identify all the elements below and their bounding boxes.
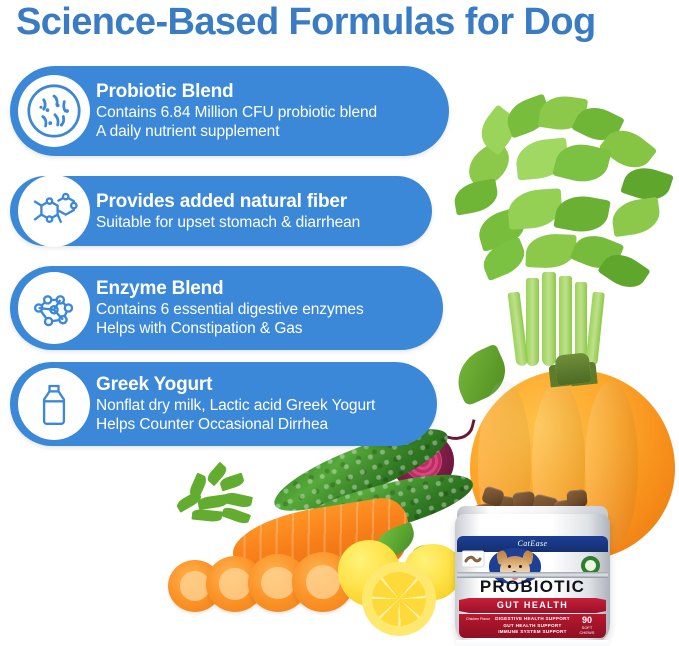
feature-line: Contains 6 essential digestive enzymes [96, 300, 429, 319]
page-title: Science-Based Formulas for Dog [16, 0, 666, 45]
enzyme-network-icon [18, 272, 90, 344]
claims-block: Chicken Flavor DIGESTIVE HEALTH SUPPORT … [459, 614, 606, 638]
lemon-half-image [362, 562, 436, 636]
carrot-slice-1 [168, 560, 222, 612]
feature-line: Nonflat dry milk, Lactic acid Greek Yogu… [96, 396, 423, 415]
feature-callout-enzyme-blend[interactable]: Enzyme Blend Contains 6 essential digest… [10, 266, 443, 350]
product-infographic: Science-Based Formulas for Dog CatEase [0, 0, 679, 646]
product-jar: CatEase PROBIOTIC GUT [455, 496, 610, 646]
beet-leaf-image [448, 343, 514, 406]
cucumber-image-front [282, 462, 479, 554]
carrot-slice-3 [248, 554, 308, 612]
jar-base [455, 640, 610, 646]
feature-heading: Provides added natural fiber [96, 191, 418, 213]
count-badge: 90 SOFT CHEWS [575, 616, 599, 635]
count-unit: SOFT CHEWS [575, 625, 599, 635]
carrot-slice-4 [292, 552, 354, 612]
feature-line: Helps Counter Occasional Dirrhea [96, 415, 423, 434]
count-value: 90 [575, 616, 599, 625]
feature-heading: Greek Yogurt [96, 374, 423, 396]
chew-photo-icon [461, 550, 485, 568]
feature-heading: Enzyme Blend [96, 278, 429, 300]
feature-callout-greek-yogurt[interactable]: Greek Yogurt Nonflat dry milk, Lactic ac… [10, 362, 437, 446]
gut-health-banner-text: GUT HEALTH [459, 598, 606, 613]
lemon-leaf-1 [369, 522, 419, 562]
feature-line: A daily nutrient supplement [96, 122, 435, 141]
microbe-icon [18, 75, 90, 147]
carrot-greens-image [176, 466, 260, 526]
product-name: PROBIOTIC [457, 576, 608, 598]
lemon-whole-image-2 [404, 544, 462, 600]
milk-bottle-icon [18, 368, 90, 440]
feature-line: Helps with Constipation & Gas [96, 319, 429, 338]
feature-heading: Probiotic Blend [96, 81, 435, 103]
feature-line: Suitable for upset stomach & diarrhean [96, 213, 418, 232]
celery-bunch-image [452, 96, 674, 364]
feature-callout-natural-fiber[interactable]: Provides added natural fiber Suitable fo… [10, 176, 432, 246]
carrot-slice-2 [206, 556, 264, 612]
molecule-icon [18, 175, 90, 247]
feature-callout-probiotic-blend[interactable]: Probiotic Blend Contains 6.84 Million CF… [10, 66, 449, 156]
feature-line: Contains 6.84 Million CFU probiotic blen… [96, 103, 435, 122]
flavor-label: Chicken Flavor [465, 617, 491, 622]
jar-body: CatEase PROBIOTIC GUT [455, 514, 610, 646]
carrot-image [228, 494, 414, 587]
gut-health-banner: GUT HEALTH [459, 598, 606, 613]
lemon-leaf-2 [409, 537, 458, 578]
lemon-whole-image [338, 540, 400, 606]
